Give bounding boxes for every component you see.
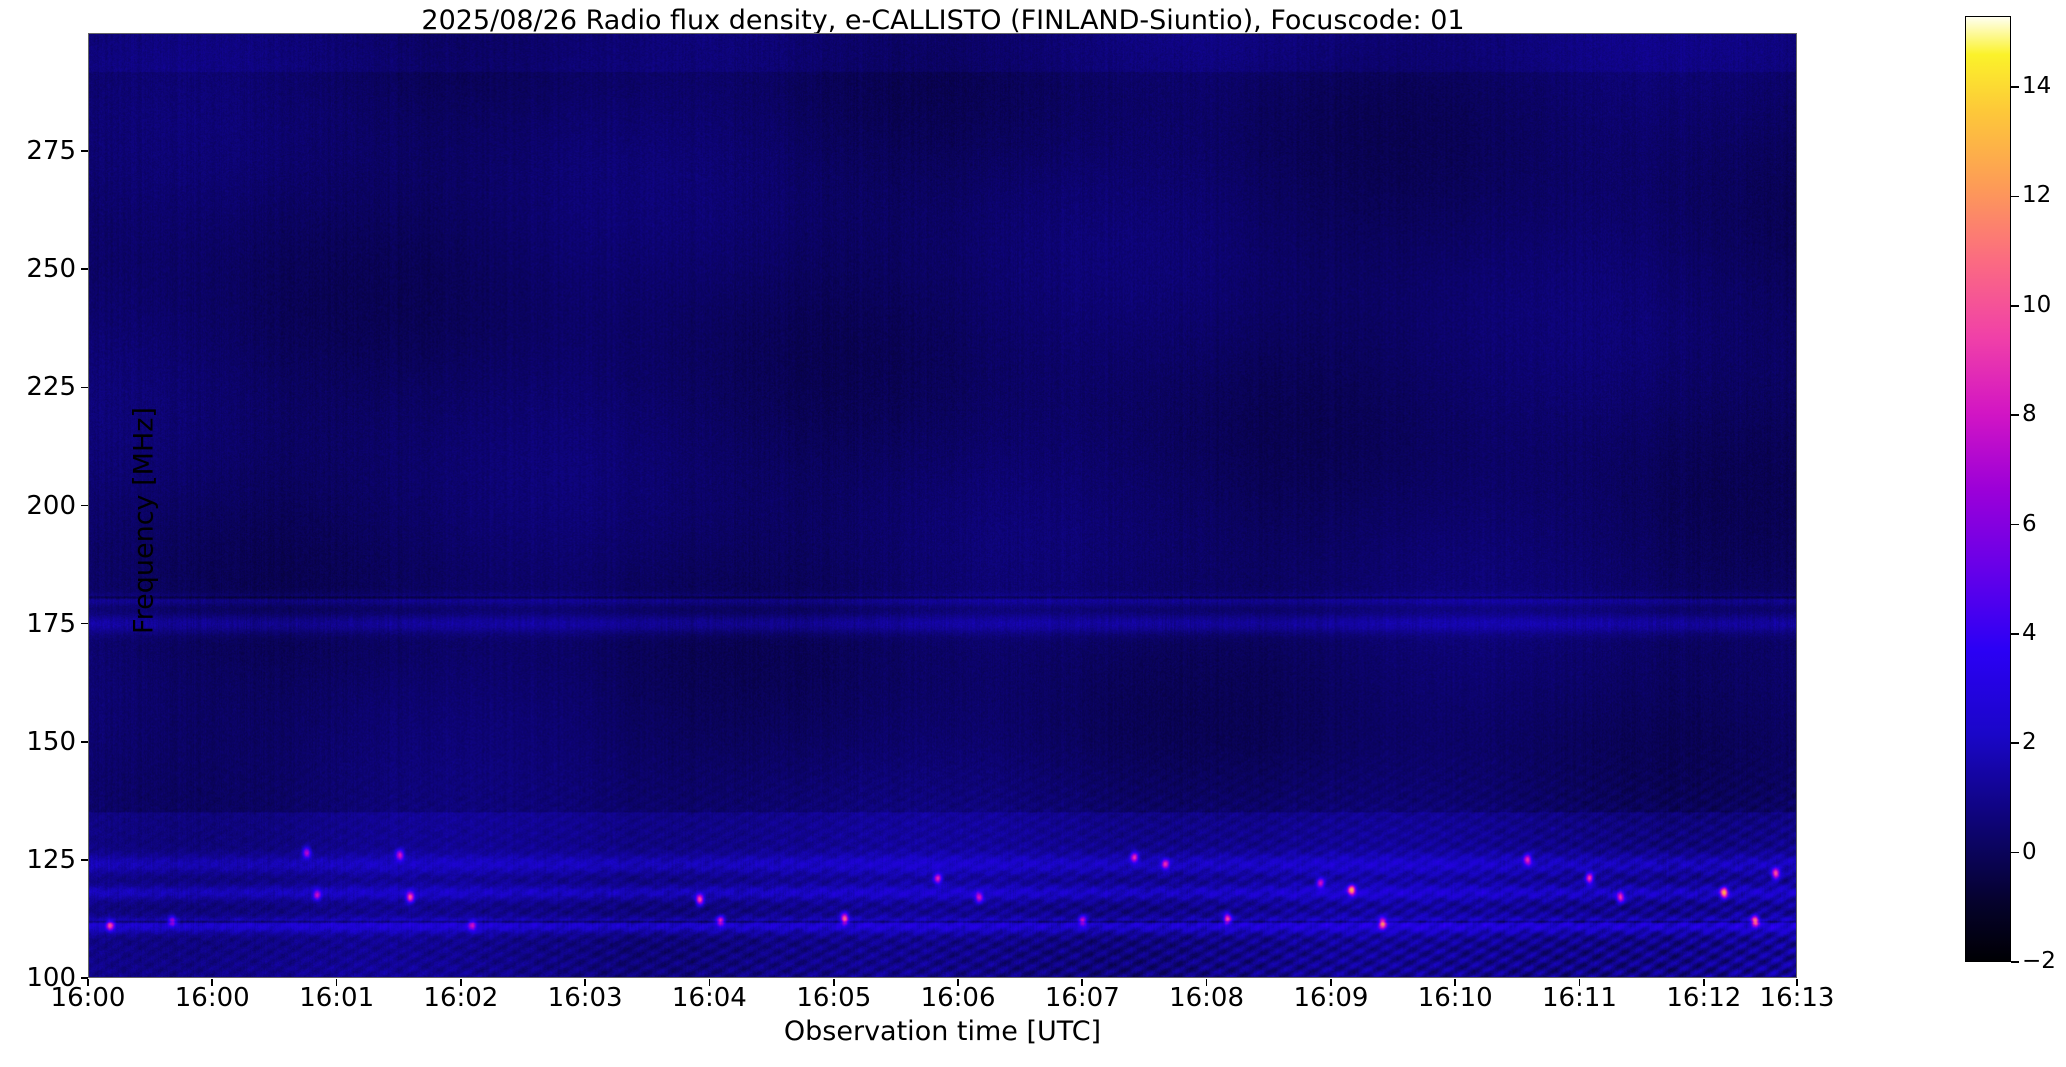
colorbar-tick-mark bbox=[2011, 86, 2019, 88]
colorbar-tick-label: 14 bbox=[2022, 75, 2066, 98]
colorbar-tick-label: 10 bbox=[2022, 294, 2066, 317]
colorbar-gradient bbox=[1966, 17, 2010, 961]
colorbar-tick-label: 4 bbox=[2022, 622, 2066, 645]
x-tick-label: 16:11 bbox=[1509, 984, 1649, 1012]
x-tick-label: 16:04 bbox=[639, 984, 779, 1012]
colorbar-tick-mark bbox=[2011, 305, 2019, 307]
colorbar-tick-mark bbox=[2011, 196, 2019, 198]
colorbar-tick-label: 2 bbox=[2022, 731, 2066, 754]
colorbar-tick-mark bbox=[2011, 633, 2019, 635]
y-tick-mark bbox=[81, 505, 88, 507]
x-tick-label: 16:01 bbox=[267, 984, 407, 1012]
y-tick-label: 225 bbox=[0, 374, 76, 400]
y-tick-mark bbox=[81, 150, 88, 152]
y-tick-mark bbox=[81, 387, 88, 389]
colorbar-tick-mark bbox=[2011, 961, 2019, 963]
y-tick-label: 125 bbox=[0, 847, 76, 873]
x-tick-label: 16:02 bbox=[391, 984, 531, 1012]
x-tick-label: 16:03 bbox=[515, 984, 655, 1012]
colorbar-tick-mark bbox=[2011, 852, 2019, 854]
y-tick-mark bbox=[81, 859, 88, 861]
x-tick-label: 16:10 bbox=[1385, 984, 1525, 1012]
x-tick-label: 16:00 bbox=[18, 984, 158, 1012]
y-tick-mark bbox=[81, 741, 88, 743]
y-tick-label: 200 bbox=[0, 493, 76, 519]
colorbar-tick-label: 6 bbox=[2022, 513, 2066, 536]
y-tick-label: 150 bbox=[0, 729, 76, 755]
x-tick-label: 16:08 bbox=[1137, 984, 1277, 1012]
colorbar-tick-label: −2 bbox=[2022, 950, 2066, 973]
x-tick-label: 16:13 bbox=[1727, 984, 1867, 1012]
y-tick-mark bbox=[81, 623, 88, 625]
x-tick-label: 16:00 bbox=[142, 984, 282, 1012]
x-tick-label: 16:07 bbox=[1012, 984, 1152, 1012]
colorbar bbox=[1965, 16, 2011, 962]
y-tick-label: 175 bbox=[0, 611, 76, 637]
colorbar-tick-label: 12 bbox=[2022, 184, 2066, 207]
spectrogram-plot-area bbox=[88, 33, 1797, 978]
spectrogram-image bbox=[89, 34, 1796, 977]
x-tick-label: 16:09 bbox=[1261, 984, 1401, 1012]
y-axis-label: Frequency [MHz] bbox=[129, 321, 160, 721]
colorbar-tick-label: 0 bbox=[2022, 841, 2066, 864]
colorbar-tick-label: 8 bbox=[2022, 403, 2066, 426]
colorbar-tick-mark bbox=[2011, 524, 2019, 526]
x-axis-label: Observation time [UTC] bbox=[88, 1016, 1797, 1047]
y-tick-mark bbox=[81, 268, 88, 270]
x-tick-label: 16:05 bbox=[764, 984, 904, 1012]
colorbar-tick-mark bbox=[2011, 414, 2019, 416]
y-tick-label: 250 bbox=[0, 256, 76, 282]
colorbar-tick-mark bbox=[2011, 742, 2019, 744]
x-tick-label: 16:06 bbox=[888, 984, 1028, 1012]
y-tick-label: 275 bbox=[0, 138, 76, 164]
